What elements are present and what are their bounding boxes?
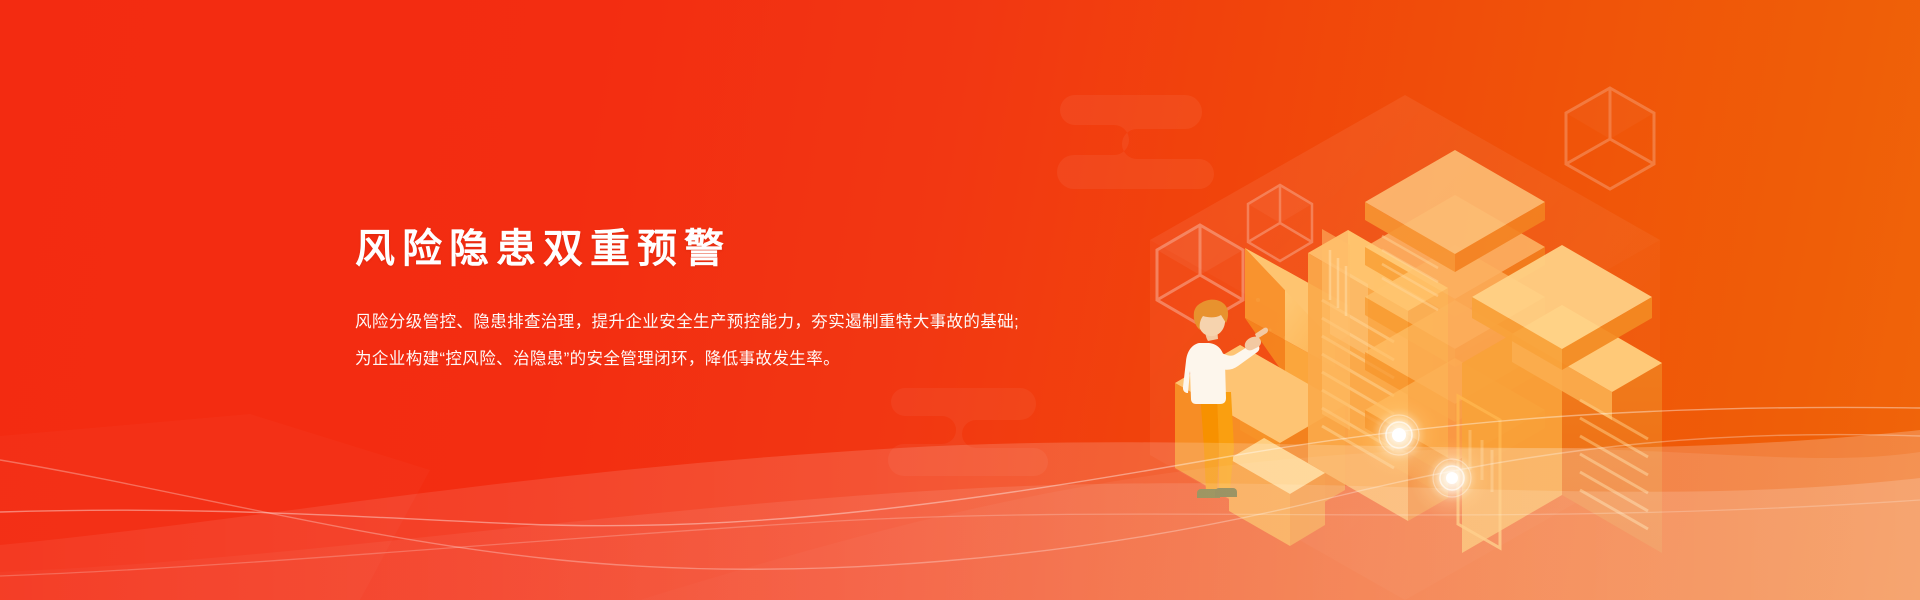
isometric-base-platform [1175, 345, 1345, 528]
isometric-server-city [1175, 150, 1662, 553]
isometric-arrow-block [1245, 248, 1375, 413]
subtitle-group: 风险分级管控、隐患排查治理，提升企业安全生产预控能力，夯实遏制重特大事故的基础;… [355, 304, 1019, 378]
hexagon-wireframe-cube-small [1248, 185, 1312, 261]
cloud-shape-upper [1057, 95, 1214, 189]
subtitle-line-2: 为企业构建“控风险、治隐患”的安全管理闭环，降低事故发生率。 [355, 341, 1019, 378]
hero-banner: 风险隐患双重预警 风险分级管控、隐患排查治理，提升企业安全生产预控能力，夯实遏制… [0, 0, 1920, 600]
isometric-slab-stack [1365, 150, 1545, 480]
isometric-outlined-panel [1458, 396, 1500, 548]
hexagon-wireframe-cube-top-right [1566, 88, 1654, 189]
page-title: 风险隐患双重预警 [355, 222, 1019, 276]
isometric-server-tower-center [1308, 230, 1448, 521]
hero-text-block: 风险隐患双重预警 风险分级管控、隐患排查治理，提升企业安全生产预控能力，夯实遏制… [355, 222, 1019, 378]
isometric-server-tower-left [1322, 229, 1350, 430]
person-pointing-figure [1183, 300, 1268, 498]
bottom-wave-decoration [0, 407, 1920, 600]
server-detail-lines [1382, 236, 1438, 310]
glow-point-a [1353, 389, 1445, 481]
cloud-shape-lower [888, 388, 1048, 476]
subtitle-line-1: 风险分级管控、隐患排查治理，提升企业安全生产预控能力，夯实遏制重特大事故的基础; [355, 304, 1019, 341]
sparkle-dots [1256, 298, 1298, 362]
isometric-small-box [1229, 438, 1325, 546]
glow-point-b [1410, 436, 1494, 520]
hexagon-wireframe-cube-medium [1157, 225, 1243, 325]
background-hexagon-large [1150, 95, 1660, 600]
isometric-server-tower-right [1462, 245, 1662, 553]
